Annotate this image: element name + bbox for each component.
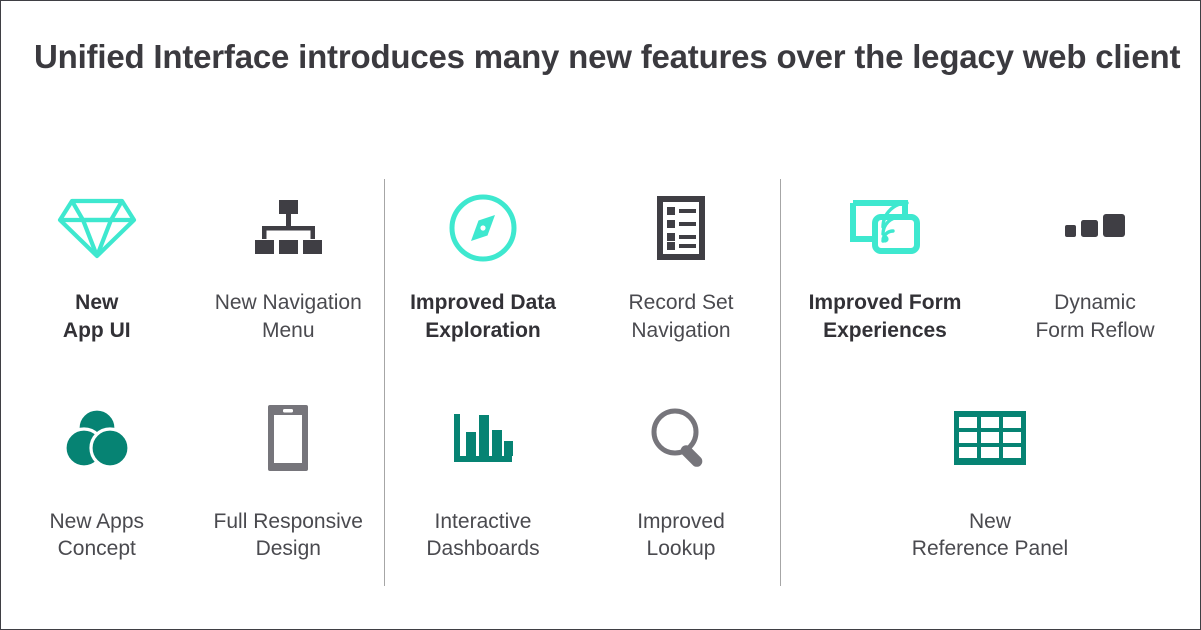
feature-column-new-app-experience: New App UI: [1, 169, 384, 594]
feature-column-data-exploration: Improved Data Exploration: [384, 169, 780, 594]
bar-chart-icon: [452, 382, 514, 494]
feature-label: New Apps Concept: [49, 508, 144, 563]
feature-cell-record-set-navigation[interactable]: Record Set Navigation: [582, 169, 780, 382]
page-title: Unified Interface introduces many new fe…: [34, 37, 1174, 77]
feature-label: Interactive Dashboards: [426, 508, 539, 563]
compass-icon: [447, 169, 519, 287]
feature-row: Improved Form Experiences Dynamic Form R…: [780, 169, 1200, 382]
screen-cast-icon: [847, 169, 923, 287]
feature-label: New App UI: [63, 289, 131, 344]
feature-row: New Apps Concept Full Responsive Design: [1, 382, 384, 595]
feature-cell-interactive-dashboards[interactable]: Interactive Dashboards: [384, 382, 582, 595]
feature-row: Interactive Dashboards Improved Lookup: [384, 382, 780, 595]
feature-row: New Reference Panel: [780, 382, 1200, 595]
feature-cell-improved-data-exploration[interactable]: Improved Data Exploration: [384, 169, 582, 382]
feature-label: Dynamic Form Reflow: [1035, 289, 1154, 344]
sitemap-icon: [253, 169, 323, 287]
feature-label: New Navigation Menu: [215, 289, 362, 344]
feature-label: Improved Data Exploration: [410, 289, 556, 344]
feature-label: Full Responsive Design: [214, 508, 363, 563]
feature-cell-dynamic-form-reflow[interactable]: Dynamic Form Reflow: [990, 169, 1200, 382]
venn-circles-icon: [65, 382, 129, 494]
feature-overview-slide: Unified Interface introduces many new fe…: [0, 0, 1201, 630]
record-list-icon: [655, 169, 707, 287]
feature-cell-improved-lookup[interactable]: Improved Lookup: [582, 382, 780, 595]
feature-cell-improved-form-experiences[interactable]: Improved Form Experiences: [780, 169, 990, 382]
feature-cell-new-reference-panel[interactable]: New Reference Panel: [780, 382, 1200, 595]
feature-cell-new-app-ui[interactable]: New App UI: [1, 169, 193, 382]
feature-cell-new-navigation-menu[interactable]: New Navigation Menu: [193, 169, 385, 382]
diamond-icon: [56, 169, 138, 287]
feature-columns: New App UI: [1, 169, 1201, 594]
feature-row: New App UI: [1, 169, 384, 382]
mobile-phone-icon: [266, 382, 310, 494]
table-grid-icon: [953, 382, 1027, 494]
feature-cell-full-responsive-design[interactable]: Full Responsive Design: [193, 382, 385, 595]
feature-label: Improved Lookup: [637, 508, 725, 563]
feature-label: New Reference Panel: [912, 508, 1068, 563]
feature-column-form-experiences: Improved Form Experiences Dynamic Form R…: [780, 169, 1200, 594]
responsive-squares-icon: [1064, 169, 1126, 287]
feature-cell-new-apps-concept[interactable]: New Apps Concept: [1, 382, 193, 595]
feature-label: Record Set Navigation: [628, 289, 733, 344]
magnifier-icon: [648, 382, 714, 494]
feature-row: Improved Data Exploration: [384, 169, 780, 382]
feature-label: Improved Form Experiences: [809, 289, 962, 344]
